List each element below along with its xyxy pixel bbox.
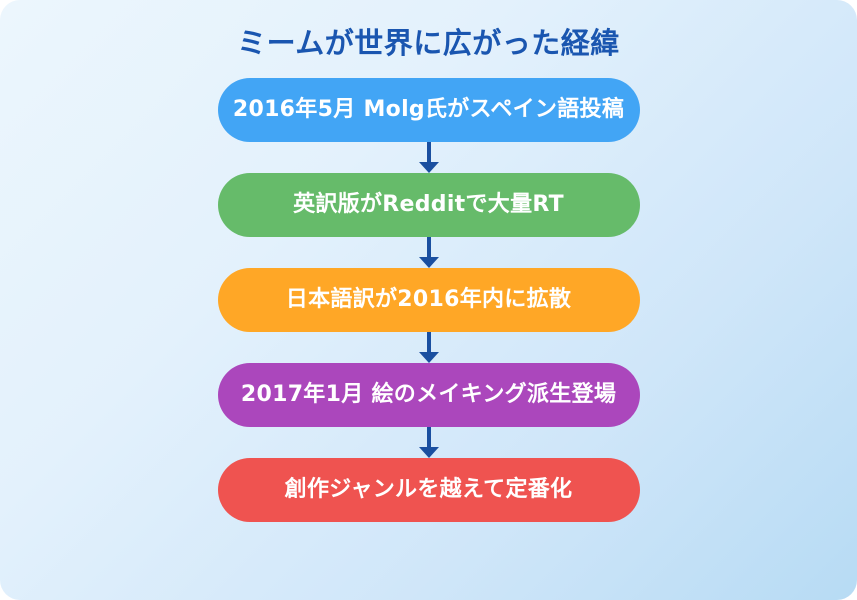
flow-step-5-label: 創作ジャンルを越えて定番化 bbox=[285, 479, 573, 501]
flow-step-4-label: 2017年1月 絵のメイキング派生登場 bbox=[241, 384, 616, 406]
flow-step-3-label: 日本語訳が2016年内に拡散 bbox=[286, 289, 571, 311]
arrow-down-icon bbox=[414, 332, 444, 363]
flow-step-2-label: 英訳版がRedditで大量RT bbox=[293, 194, 564, 216]
flow-step-5[interactable]: 創作ジャンルを越えて定番化 bbox=[218, 458, 640, 522]
flow-step-4[interactable]: 2017年1月 絵のメイキング派生登場 bbox=[218, 363, 640, 427]
flow-step-1[interactable]: 2016年5月 Molg氏がスペイン語投稿 bbox=[218, 78, 640, 142]
flowchart: 2016年5月 Molg氏がスペイン語投稿 英訳版がRedditで大量RT 日本… bbox=[218, 78, 640, 522]
arrow-down-icon bbox=[414, 142, 444, 173]
flow-step-1-label: 2016年5月 Molg氏がスペイン語投稿 bbox=[233, 99, 624, 121]
page-title: ミームが世界に広がった経緯 bbox=[237, 26, 620, 61]
arrow-down-icon bbox=[414, 427, 444, 458]
infographic-canvas: ミームが世界に広がった経緯 2016年5月 Molg氏がスペイン語投稿 英訳版が… bbox=[0, 0, 857, 600]
flow-step-2[interactable]: 英訳版がRedditで大量RT bbox=[218, 173, 640, 237]
arrow-down-icon bbox=[414, 237, 444, 268]
flow-step-3[interactable]: 日本語訳が2016年内に拡散 bbox=[218, 268, 640, 332]
